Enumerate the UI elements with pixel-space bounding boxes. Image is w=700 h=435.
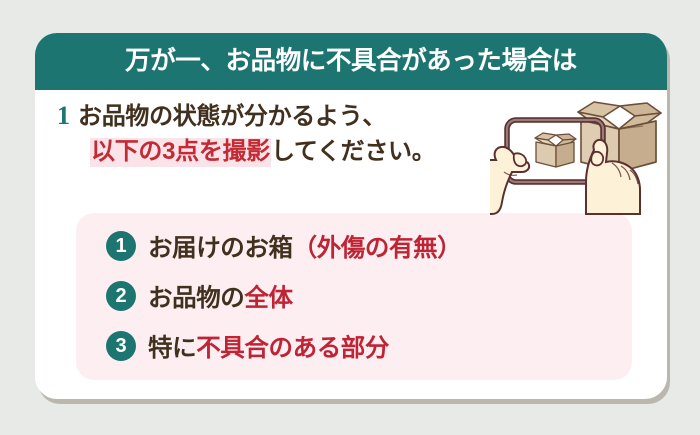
- card-header: 万が一、お品物に不具合があった場合は: [35, 33, 667, 90]
- step-line-2-tail: してください。: [271, 140, 435, 164]
- instruction-card: 万が一、お品物に不具合があった場合は 1 お品物の状態が分かるよう、 以下の3点…: [35, 33, 667, 399]
- step-line-2: 以下の3点を撮影 してください。: [90, 138, 527, 167]
- photo-list: 1 お届けのお箱 （外傷の有無） 2 お品物の 全体 3 特に 不具合のある部分: [106, 221, 626, 371]
- step-block: 1 お品物の状態が分かるよう、 以下の3点を撮影 してください。: [57, 103, 527, 167]
- camera-box-illustration: [490, 90, 667, 215]
- badge-number-3: 3: [106, 331, 136, 361]
- list-item: 3 特に 不具合のある部分: [106, 321, 626, 371]
- header-title: 万が一、お品物に不具合があった場合は: [125, 49, 577, 75]
- step-number: 1: [57, 103, 70, 129]
- list-item-2-dark: お品物の: [148, 279, 244, 314]
- screenshot-root: 万が一、お品物に不具合があった場合は 1 お品物の状態が分かるよう、 以下の3点…: [0, 0, 700, 435]
- list-item-3-red: 不具合のある部分: [196, 329, 389, 364]
- list-item-2-red: 全体: [244, 279, 292, 314]
- list-item: 1 お届けのお箱 （外傷の有無）: [106, 221, 626, 271]
- badge-number-1: 1: [106, 231, 136, 261]
- list-item-1-red: （外傷の有無）: [293, 229, 462, 264]
- list-item-1-dark: お届けのお箱: [148, 229, 293, 264]
- step-line-1-text: お品物の状態が分かるよう、: [78, 105, 386, 129]
- step-highlight-text: 以下の3点を撮影: [90, 138, 271, 167]
- badge-number-2: 2: [106, 281, 136, 311]
- list-item-3-dark: 特に: [148, 329, 196, 364]
- step-line-1: 1 お品物の状態が分かるよう、: [57, 103, 527, 129]
- list-item: 2 お品物の 全体: [106, 271, 626, 321]
